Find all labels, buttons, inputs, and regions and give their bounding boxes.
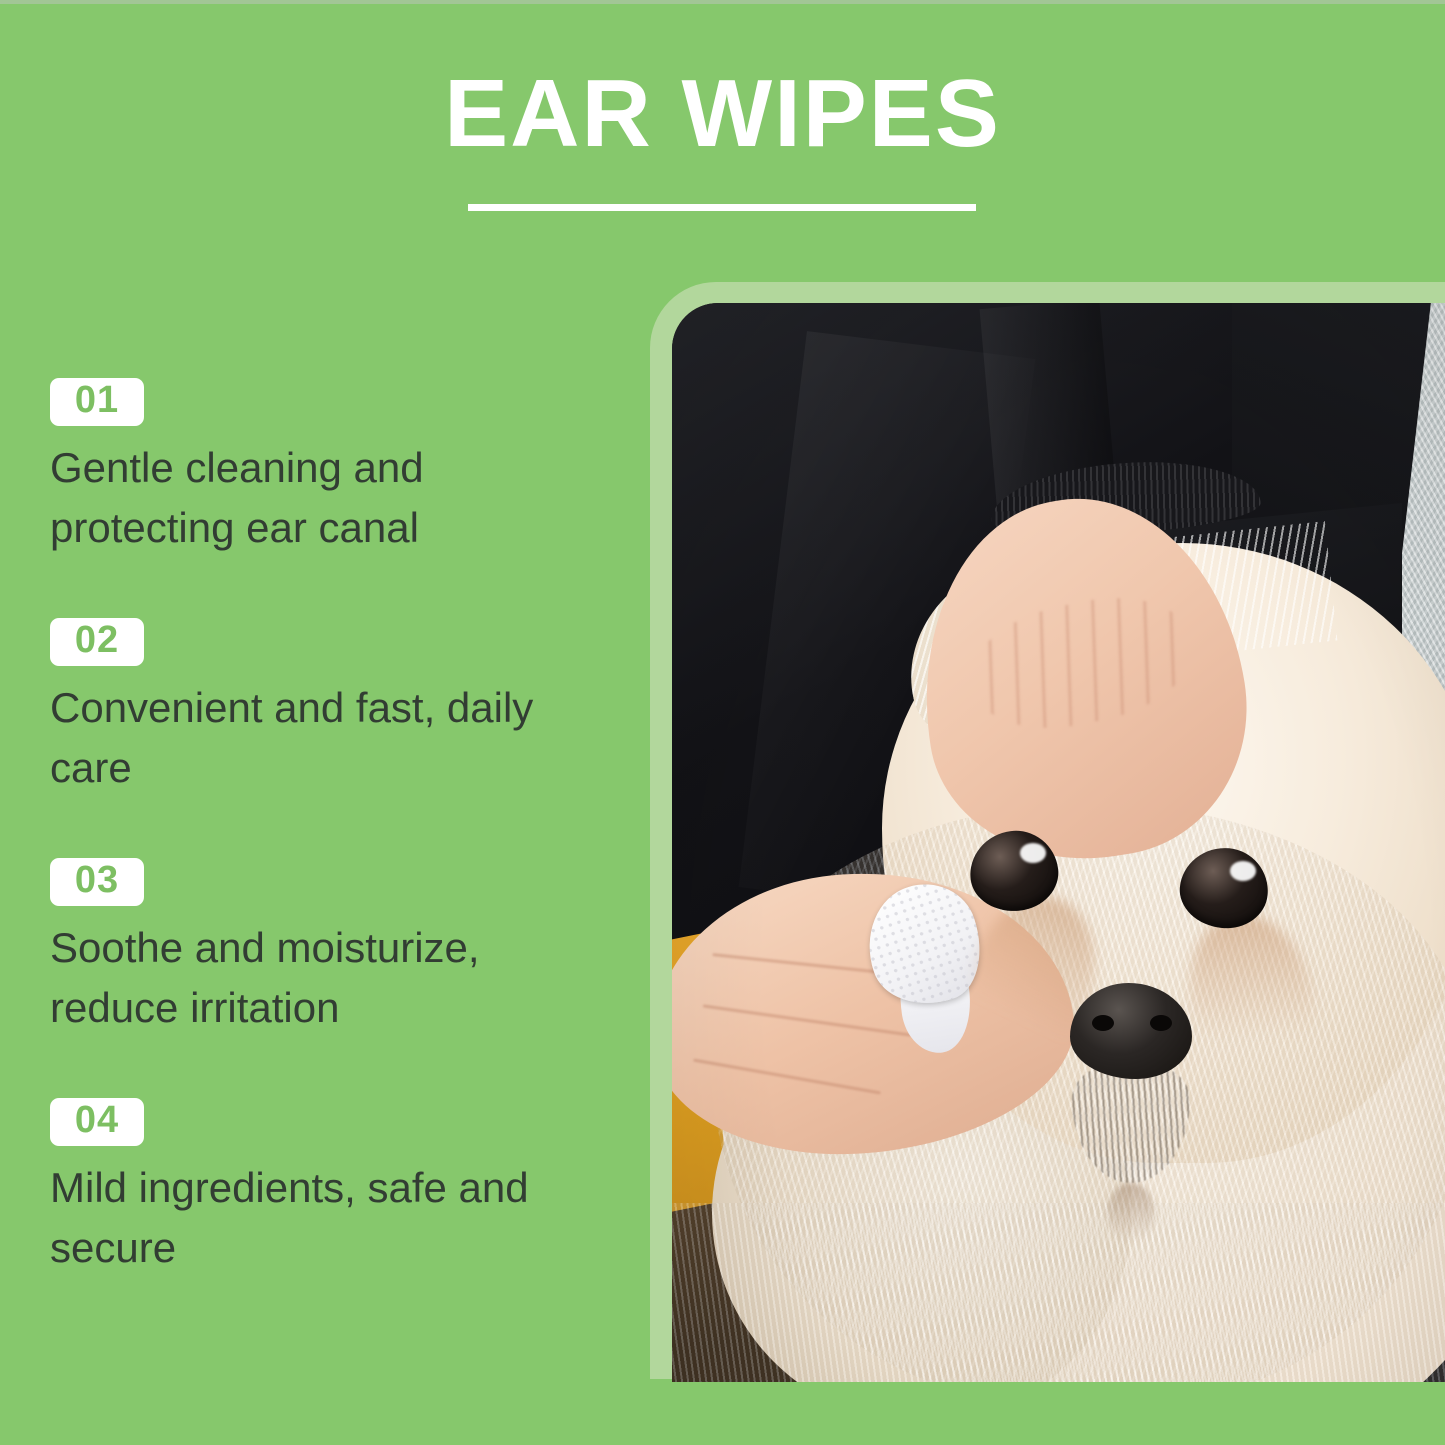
top-edge-strip [0, 0, 1445, 4]
feature-number-01: 01 [75, 379, 119, 421]
feature-badge-04: 04 [50, 1098, 144, 1146]
product-photo [672, 303, 1445, 1382]
feature-item-01: 01 Gentle cleaning and protecting ear ca… [50, 378, 610, 558]
feature-list: 01 Gentle cleaning and protecting ear ca… [50, 378, 610, 1278]
feature-number-03: 03 [75, 859, 119, 901]
feature-item-04: 04 Mild ingredients, safe and secure [50, 1098, 610, 1278]
dog-eye-glint-left [1020, 843, 1046, 863]
feature-badge-01: 01 [50, 378, 144, 426]
dog-nostril-right [1150, 1015, 1172, 1031]
feature-item-02: 02 Convenient and fast, daily care [50, 618, 610, 798]
dog-mouth [1108, 1183, 1154, 1243]
dog-fur-texture-lower [672, 1203, 1445, 1382]
title-underline-rule [468, 204, 976, 211]
feature-text-03: Soothe and moisturize, reduce irritation [50, 918, 590, 1038]
photo-scene [672, 303, 1445, 1382]
poster-header: EAR WIPES [0, 66, 1445, 162]
feature-text-04: Mild ingredients, safe and secure [50, 1158, 590, 1278]
feature-number-02: 02 [75, 619, 119, 661]
feature-item-03: 03 Soothe and moisturize, reduce irritat… [50, 858, 610, 1038]
page-title: EAR WIPES [0, 66, 1445, 162]
feature-number-04: 04 [75, 1099, 119, 1141]
product-feature-poster: EAR WIPES 01 Gentle cleaning and protect… [0, 0, 1445, 1445]
feature-badge-02: 02 [50, 618, 144, 666]
dog-nostril-left [1092, 1015, 1114, 1031]
feature-badge-03: 03 [50, 858, 144, 906]
feature-text-01: Gentle cleaning and protecting ear canal [50, 438, 590, 558]
dog-eye-glint-right [1230, 861, 1256, 881]
feature-text-02: Convenient and fast, daily care [50, 678, 590, 798]
